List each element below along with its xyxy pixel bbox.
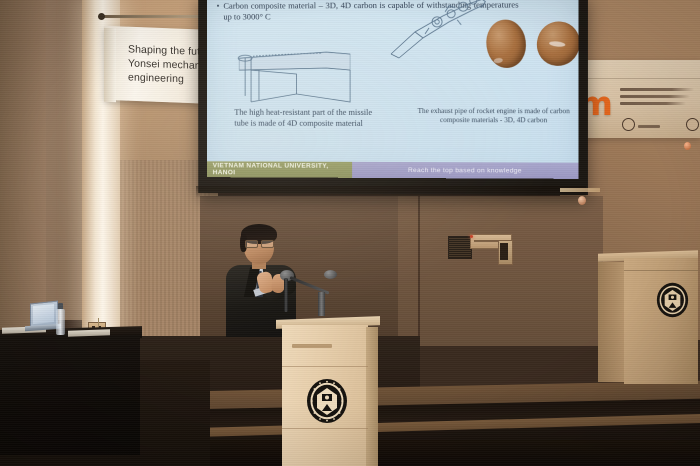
korean-text-lines — [620, 88, 698, 109]
podium-side-face — [366, 327, 378, 466]
main-podium — [282, 318, 374, 466]
secondary-podium — [598, 252, 698, 402]
air-vent — [448, 236, 472, 259]
university-seal-icon — [622, 118, 635, 131]
bottle-body — [56, 309, 65, 335]
organization-label: VIETNAM NATIONAL UNIVERSITY, HANOI — [213, 162, 352, 177]
secondary-podium-side — [598, 262, 625, 382]
slide-footer-tagline: Reach the top based on knowledge — [352, 162, 579, 179]
wall-seam — [418, 196, 420, 346]
banner-rod-knob — [98, 13, 105, 20]
laptop-screen — [33, 304, 54, 324]
university-seal-icon — [686, 118, 699, 131]
water-bottle — [56, 303, 65, 335]
glasses-icon — [245, 240, 273, 246]
yonsei-university-emblem-icon — [306, 378, 348, 424]
bullet-marker: • — [217, 1, 220, 22]
slide-footer-organization: VIETNAM NATIONAL UNIVERSITY, HANOI — [207, 161, 352, 178]
left-figure-caption: The high heat-resistant part of the miss… — [234, 108, 383, 129]
podium-slot — [292, 344, 332, 348]
banner-fold — [104, 28, 116, 102]
secondary-podium-face — [624, 258, 698, 384]
status-led-icon — [470, 235, 473, 238]
wall-left-shadow — [0, 0, 46, 330]
screen-shadow — [196, 186, 586, 198]
podium-seam — [282, 366, 368, 367]
right-figure-caption: The exhaust pipe of rocket engine is mad… — [417, 107, 570, 125]
korean-line — [620, 102, 686, 105]
microphone-stem — [284, 278, 288, 312]
projected-slide: …optimum structure …thermal expansion, c… — [207, 0, 579, 179]
conference-hall-photo: Shaping the futu Yonsei mechani engineer… — [0, 0, 700, 466]
banner-logos — [622, 118, 700, 131]
wall-switch-face — [500, 243, 508, 260]
wall-light-dot — [684, 142, 691, 150]
korean-line — [620, 95, 690, 98]
banner-logo — [686, 118, 700, 131]
tagline-label: Reach the top based on knowledge — [408, 167, 522, 175]
banner-logo — [622, 118, 660, 131]
wall-back-right — [398, 196, 603, 346]
microphone-head-secondary-icon — [324, 270, 337, 279]
logo-wordmark — [638, 125, 660, 128]
podium-seam — [282, 428, 368, 429]
side-table-skirt — [0, 335, 140, 455]
secondary-podium-seam — [624, 270, 698, 271]
microphone-base — [318, 292, 325, 316]
korean-line — [620, 88, 694, 91]
slide-footer: VIETNAM NATIONAL UNIVERSITY, HANOI Reach… — [207, 161, 579, 179]
yonsei-university-emblem-icon-secondary — [656, 282, 689, 318]
wall-light-strip — [560, 188, 600, 192]
wall-fixture — [578, 196, 586, 205]
missile-tube-diagram — [231, 44, 360, 106]
